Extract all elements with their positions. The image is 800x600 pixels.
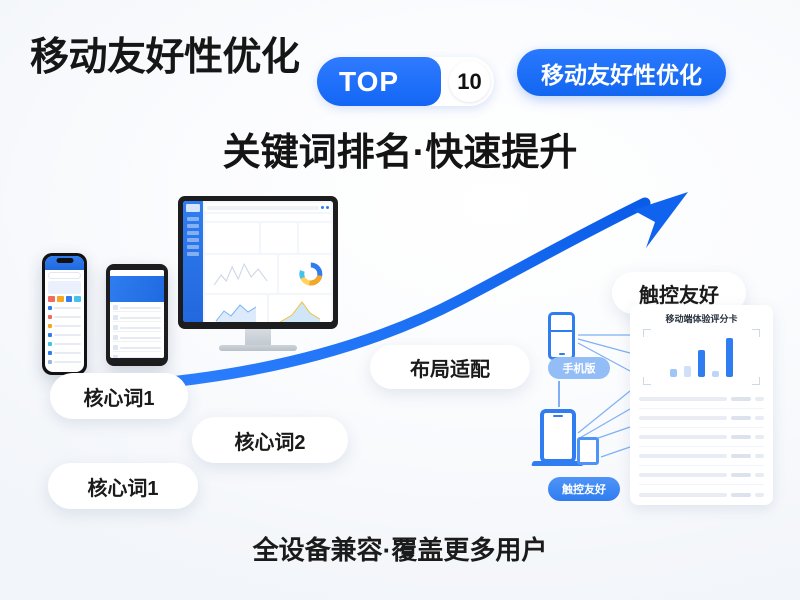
device-relationship-diagram: 手机版 触控友好 移动端体验评分卡 (535, 305, 775, 511)
top-rank-badge: TOP 10 (317, 57, 494, 106)
keyword-pill-3[interactable]: 核心词1 (48, 463, 198, 509)
score-card: 移动端体验评分卡 (630, 305, 773, 505)
monitor-stand-foot (219, 345, 297, 351)
dashboard-sidebar (183, 201, 203, 322)
keyword-pill-layout-adapt[interactable]: 布局适配 (370, 345, 530, 389)
top-badge-label: TOP (339, 66, 419, 98)
phone-mockup (42, 253, 87, 375)
desktop-monitor-mockup (178, 196, 338, 351)
tablet-mockup (106, 264, 168, 366)
keyword-pill-2[interactable]: 核心词2 (192, 417, 348, 463)
score-card-chart (643, 329, 760, 385)
tablet-banner (110, 276, 164, 302)
diagram-pill-touch-friendly[interactable]: 触控友好 (548, 477, 620, 501)
top-badge-blue-section: TOP (317, 57, 441, 106)
score-card-bars (643, 333, 760, 377)
keyword-pill-1[interactable]: 核心词1 (50, 373, 188, 419)
monitor-screen (183, 201, 333, 322)
score-card-row (639, 485, 764, 504)
tag-pill-mobile-friendly[interactable]: 移动友好性优化 (517, 49, 726, 96)
score-card-row (639, 466, 764, 485)
phone-screen (45, 256, 84, 372)
phone-search-bar (48, 272, 81, 279)
diagram-pill-mobile-version[interactable]: 手机版 (548, 357, 610, 379)
monitor-bezel (178, 196, 338, 329)
page-subtitle: 关键词排名·快速提升 (0, 121, 800, 176)
diagram-large-phone-icon (540, 409, 576, 463)
monitor-stand-neck (245, 329, 271, 345)
score-card-row (639, 447, 764, 466)
page-title: 移动友好性优化 (30, 26, 300, 82)
score-card-row (639, 409, 764, 428)
dashboard-main (203, 201, 333, 322)
diagram-tablet-icon (577, 437, 599, 465)
phone-notch (56, 258, 73, 263)
diagram-small-phone-icon (548, 312, 575, 360)
donut-chart-icon (279, 255, 331, 293)
footer-tagline: 全设备兼容·覆盖更多用户 (0, 530, 800, 567)
top-badge-number: 10 (449, 61, 490, 102)
tablet-screen (110, 270, 164, 358)
score-card-row (639, 390, 764, 409)
score-card-row (639, 428, 764, 447)
poster-canvas: 移动友好性优化 TOP 10 移动友好性优化 关键词排名·快速提升 (0, 0, 800, 600)
score-card-title: 移动端体验评分卡 (639, 312, 764, 325)
